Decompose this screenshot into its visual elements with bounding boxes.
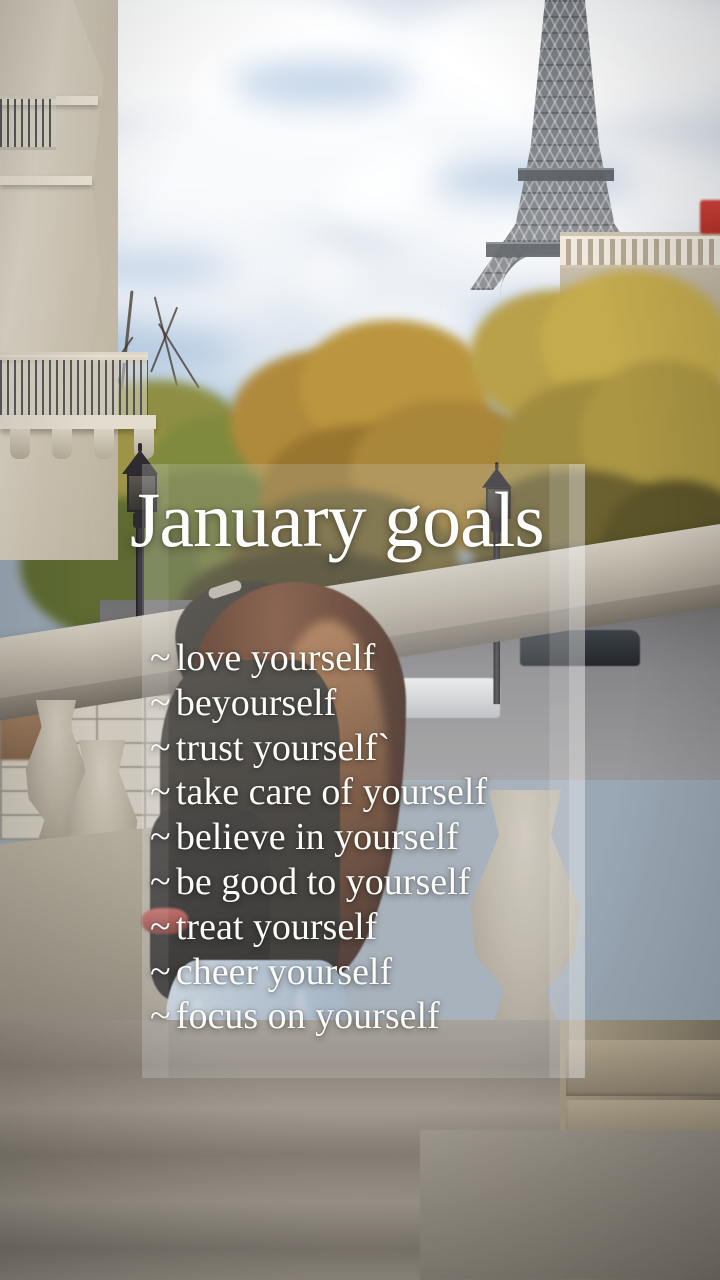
bullet-marker: ~	[150, 995, 171, 1037]
bullet-marker: ~	[150, 727, 171, 769]
list-item-label: trust yourself`	[176, 727, 390, 769]
tower-deck-upper	[518, 168, 614, 181]
page-title: January goals	[130, 481, 600, 559]
bullet-marker: ~	[150, 771, 171, 813]
list-item: ~take care of yourself	[150, 770, 610, 815]
list-item-label: beyourself	[176, 682, 336, 724]
list-item-label: love yourself	[176, 637, 375, 679]
list-item-label: focus on yourself	[176, 995, 440, 1037]
list-item: ~focus on yourself	[150, 994, 610, 1039]
bullet-marker: ~	[150, 682, 171, 724]
list-item-label: cheer yourself	[176, 951, 392, 993]
cloud-shadow	[230, 60, 410, 106]
list-item-label: be good to yourself	[176, 861, 470, 903]
upper-balcony-railing	[0, 96, 56, 150]
bullet-marker: ~	[150, 951, 171, 993]
list-item: ~cheer yourself	[150, 950, 610, 995]
bullet-marker: ~	[150, 637, 171, 679]
list-item: ~trust yourself`	[150, 726, 610, 771]
corbel	[52, 429, 72, 459]
list-item-label: believe in yourself	[176, 816, 459, 858]
balcony-railing	[0, 357, 148, 421]
balcony-ledge	[0, 415, 156, 429]
list-item: ~believe in yourself	[150, 815, 610, 860]
building-cornice	[0, 176, 92, 185]
bullet-marker: ~	[150, 906, 171, 948]
list-item: ~love yourself	[150, 636, 610, 681]
red-awning	[700, 200, 720, 234]
list-item-label: take care of yourself	[176, 771, 487, 813]
list-item: ~treat yourself	[150, 905, 610, 950]
list-item: ~be good to yourself	[150, 860, 610, 905]
corbel	[94, 429, 114, 459]
step-tread	[420, 1130, 720, 1280]
post-canvas: January goals ~love yourself ~beyourself…	[0, 0, 720, 1280]
list-item: ~beyourself	[150, 681, 610, 726]
bullet-marker: ~	[150, 861, 171, 903]
bullet-marker: ~	[150, 816, 171, 858]
stone-block	[566, 1040, 720, 1096]
corbel	[10, 429, 30, 459]
list-item-label: treat yourself	[176, 906, 378, 948]
goals-list: ~love yourself ~beyourself ~trust yourse…	[150, 636, 610, 1039]
lamp-finial	[138, 443, 142, 452]
